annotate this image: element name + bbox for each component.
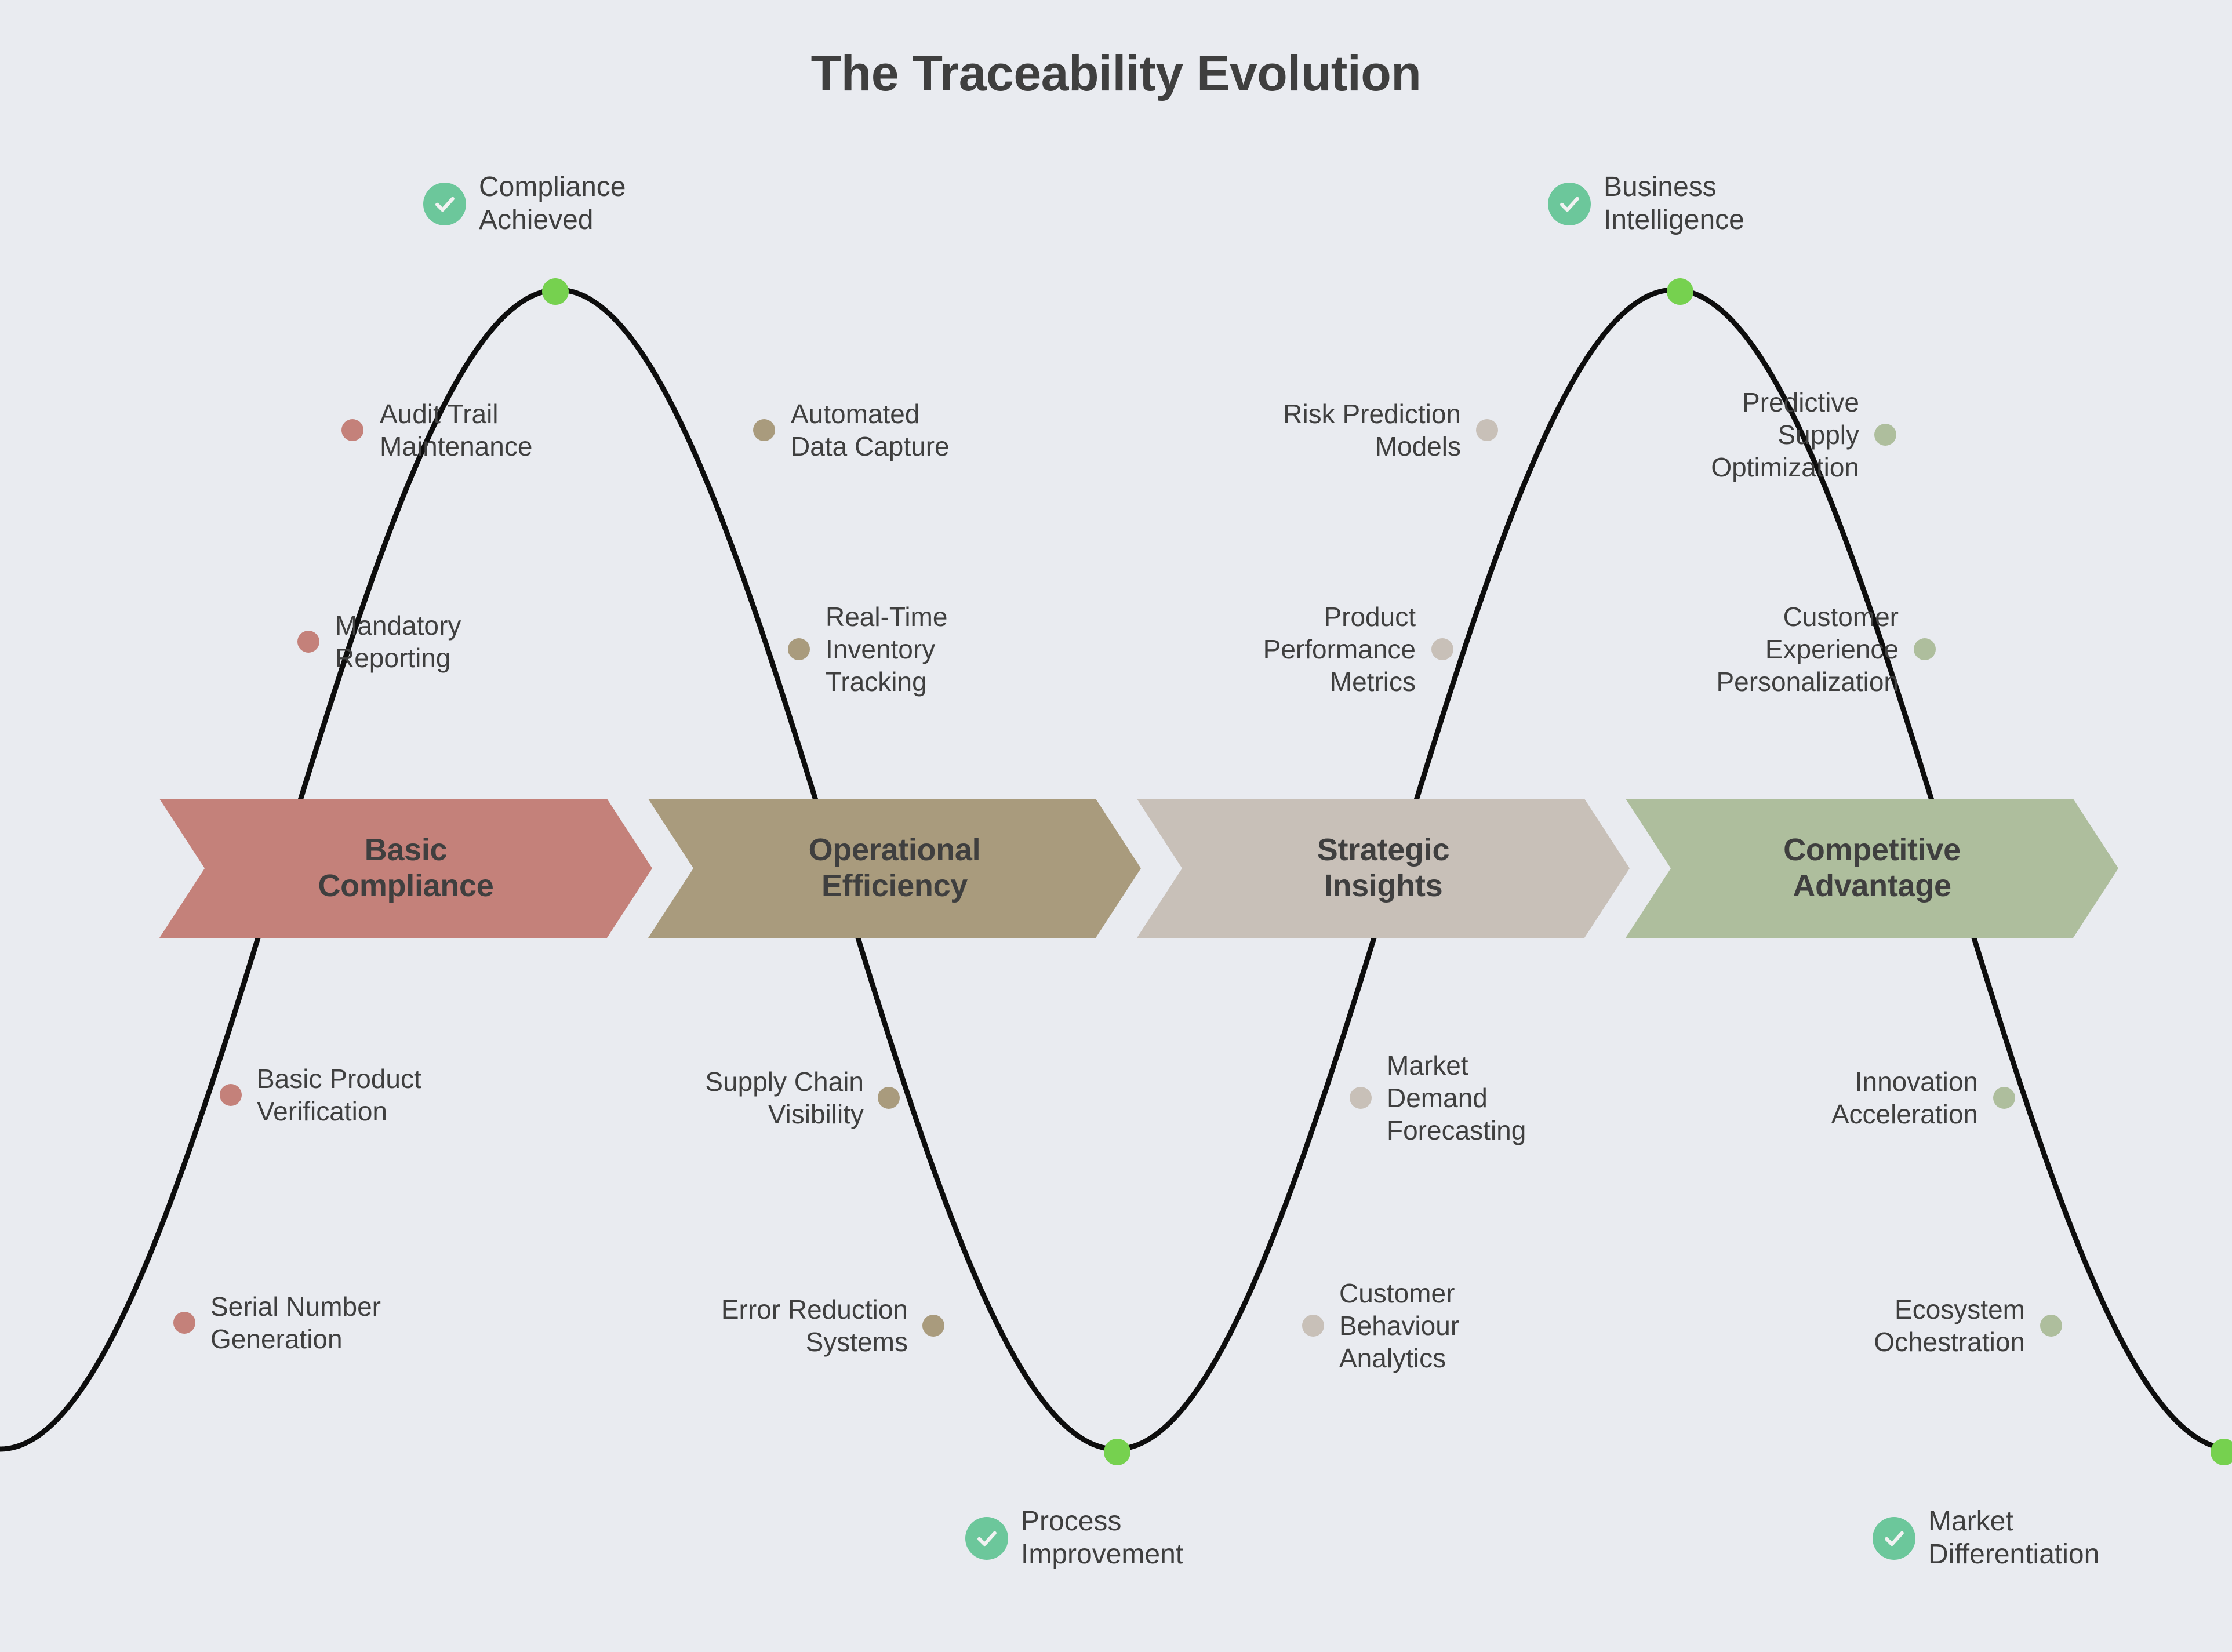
node-dot[interactable] [297,631,319,653]
node-dot[interactable] [1476,419,1498,441]
stage-chevron-2[interactable]: Operational Efficiency [648,799,1141,938]
milestone-label: Market Differentiation [1928,1505,2099,1571]
milestone-badge-3[interactable]: Process Improvement [965,1505,1183,1571]
node-dot[interactable] [1914,638,1936,660]
node-label: Customer Behaviour Analytics [1339,1277,1459,1374]
milestone-badge-4[interactable]: Market Differentiation [1873,1505,2099,1571]
check-icon [965,1517,1008,1560]
node-dot[interactable] [173,1312,195,1334]
node-dot[interactable] [341,419,363,441]
node-dot[interactable] [788,638,810,660]
check-icon [1548,183,1591,225]
stage-label-1: Basic Compliance [318,832,493,904]
node-label: Ecosystem Ochestration [1874,1293,2025,1358]
stage-chevron-1[interactable]: Basic Compliance [159,799,652,938]
stage-chevron-band: Basic ComplianceOperational EfficiencySt… [0,799,2232,938]
page-title: The Traceability Evolution [0,45,2232,103]
node-dot[interactable] [2040,1315,2062,1337]
milestone-label: Process Improvement [1021,1505,1183,1571]
milestone-dot[interactable] [1667,278,1693,305]
node-label: Market Demand Forecasting [1387,1049,1526,1147]
stage-label-2: Operational Efficiency [809,832,981,904]
node-dot[interactable] [922,1315,944,1337]
node-label: Mandatory Reporting [335,609,461,674]
node-label: Predictive Supply Optimization [1711,386,1859,483]
check-icon [1873,1517,1915,1560]
node-label: Supply Chain Visibility [705,1065,864,1130]
infographic-canvas: The Traceability Evolution Basic Complia… [0,0,2232,1652]
stage-chevron-3[interactable]: Strategic Insights [1137,799,1630,938]
stage-label-4: Competitive Advantage [1783,832,1961,904]
node-dot[interactable] [878,1087,900,1109]
node-dot[interactable] [1431,638,1453,660]
node-dot[interactable] [1874,424,1896,446]
check-icon [423,183,466,225]
milestone-label: Compliance Achieved [479,171,626,236]
milestone-badge-1[interactable]: Compliance Achieved [423,171,626,236]
node-dot[interactable] [1302,1315,1324,1337]
node-dot[interactable] [220,1084,242,1106]
node-dot[interactable] [1993,1087,2015,1109]
milestone-dot[interactable] [542,278,569,305]
milestone-dot[interactable] [1104,1439,1130,1465]
milestone-label: Business Intelligence [1604,171,1744,236]
node-label: Basic Product Verification [257,1062,421,1127]
milestone-badge-2[interactable]: Business Intelligence [1548,171,1744,236]
node-label: Innovation Acceleration [1831,1065,1978,1130]
node-label: Product Performance Metrics [1263,601,1416,698]
node-label: Audit Trail Maintenance [380,398,532,463]
node-dot[interactable] [1350,1087,1372,1109]
stage-chevron-4[interactable]: Competitive Advantage [1626,799,2118,938]
node-label: Real-Time Inventory Tracking [826,601,947,698]
stage-label-3: Strategic Insights [1317,832,1449,904]
node-label: Error Reduction Systems [721,1293,908,1358]
node-dot[interactable] [753,419,775,441]
node-label: Customer Experience Personalization [1716,601,1899,698]
node-label: Risk Prediction Models [1283,398,1461,463]
node-label: Automated Data Capture [791,398,950,463]
node-label: Serial Number Generation [210,1290,381,1355]
